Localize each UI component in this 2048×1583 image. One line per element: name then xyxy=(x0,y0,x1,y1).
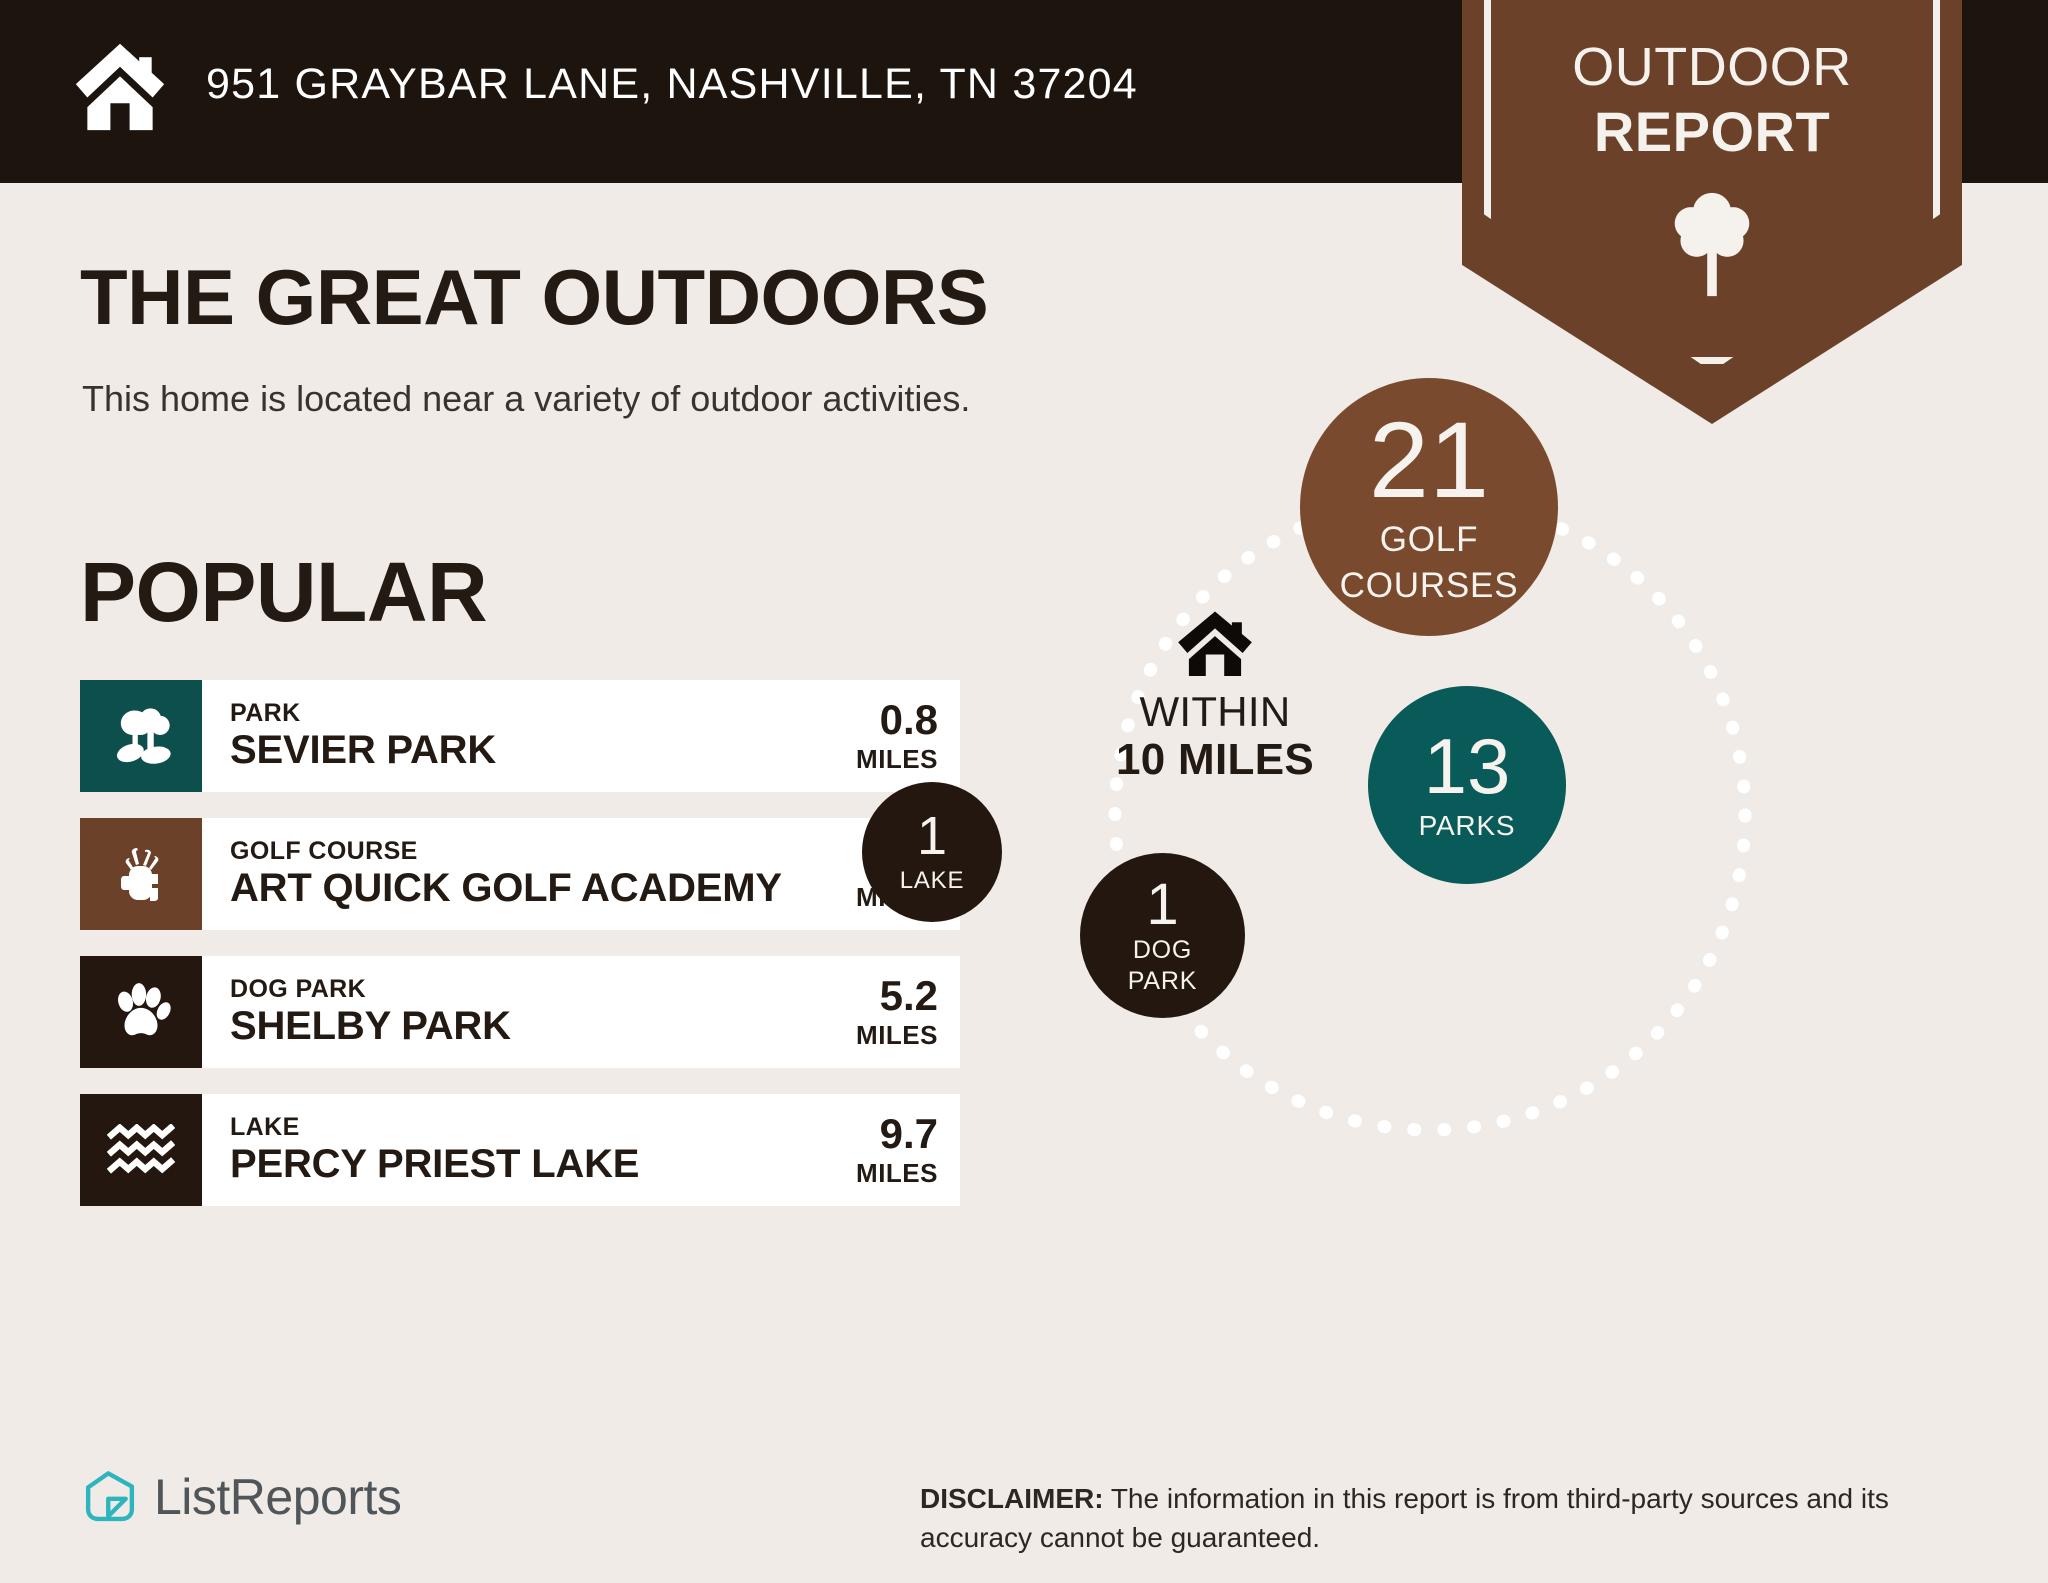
badge-title-line1: OUTDOOR xyxy=(1462,36,1962,98)
list-item[interactable]: GOLF COURSE ART QUICK GOLF ACADEMY 3.5 M… xyxy=(80,818,960,930)
bubble-dog-park[interactable]: 1 DOG PARK xyxy=(1080,853,1245,1018)
bubble-parks[interactable]: 13 PARKS xyxy=(1368,686,1566,884)
center-label-line2: 10 MILES xyxy=(1090,735,1340,784)
disclaimer-label: DISCLAIMER: xyxy=(920,1483,1104,1514)
section-heading-popular: POPULAR xyxy=(80,544,487,641)
list-item[interactable]: PARK SEVIER PARK 0.8 MILES xyxy=(80,680,960,792)
bubble-label-line2: COURSES xyxy=(1340,568,1519,605)
bubble-value: 13 xyxy=(1424,729,1511,803)
list-item-text: DOG PARK SHELBY PARK xyxy=(202,956,848,1068)
list-item-distance: 5.2 MILES xyxy=(848,956,960,1068)
distance-value: 0.8 xyxy=(880,697,938,743)
popular-list: PARK SEVIER PARK 0.8 MILES xyxy=(80,680,960,1232)
outdoor-report-page: 951 GRAYBAR LANE, NASHVILLE, TN 37204 OU… xyxy=(0,0,2048,1583)
golf-bag-icon xyxy=(80,818,202,930)
tree-icon xyxy=(1664,189,1760,299)
home-icon xyxy=(72,38,168,134)
list-item-category: GOLF COURSE xyxy=(230,837,848,866)
page-title: THE GREAT OUTDOORS xyxy=(80,252,988,343)
list-item-text: LAKE PERCY PRIEST LAKE xyxy=(202,1094,848,1206)
list-item[interactable]: LAKE PERCY PRIEST LAKE 9.7 MILES xyxy=(80,1094,960,1206)
page-subtitle: This home is located near a variety of o… xyxy=(82,378,970,420)
bubble-label-line1: PARKS xyxy=(1419,811,1516,840)
disclaimer: DISCLAIMER: The information in this repo… xyxy=(920,1480,1990,1557)
within-10-miles-diagram: WITHIN 10 MILES 21 GOLF COURSES 13 PARKS… xyxy=(1090,470,2030,1330)
center-label-line1: WITHIN xyxy=(1090,688,1340,735)
list-item-text: GOLF COURSE ART QUICK GOLF ACADEMY xyxy=(202,818,848,930)
distance-unit: MILES xyxy=(856,1158,938,1189)
listreports-house-icon xyxy=(82,1469,138,1525)
bubble-value: 21 xyxy=(1369,409,1489,512)
list-item-text: PARK SEVIER PARK xyxy=(202,680,848,792)
bubble-golf-courses[interactable]: 21 GOLF COURSES xyxy=(1300,378,1558,636)
distance-unit: MILES xyxy=(856,744,938,775)
list-item-name: PERCY PRIEST LAKE xyxy=(230,1141,848,1187)
bubble-label-line1: DOG xyxy=(1133,937,1192,963)
bubble-value: 1 xyxy=(1146,877,1178,932)
park-trees-icon xyxy=(80,680,202,792)
bubble-label-line1: LAKE xyxy=(900,868,965,893)
paw-print-icon xyxy=(80,956,202,1068)
distance-unit: MILES xyxy=(856,1020,938,1051)
list-item-distance: 9.7 MILES xyxy=(848,1094,960,1206)
distance-value: 9.7 xyxy=(880,1111,938,1157)
list-item-category: LAKE xyxy=(230,1113,848,1142)
listreports-logo[interactable]: ListReports xyxy=(82,1468,401,1526)
list-item-name: ART QUICK GOLF ACADEMY xyxy=(230,865,848,911)
bubble-lake[interactable]: 1 LAKE xyxy=(862,782,1002,922)
outdoor-report-badge: OUTDOOR REPORT xyxy=(1462,0,1962,424)
listreports-logo-text: ListReports xyxy=(154,1468,401,1526)
bubble-label-line2: PARK xyxy=(1128,968,1197,994)
water-waves-icon xyxy=(80,1094,202,1206)
list-item-name: SEVIER PARK xyxy=(230,727,848,773)
badge-title-line2: REPORT xyxy=(1462,99,1962,164)
list-item-distance: 0.8 MILES xyxy=(848,680,960,792)
property-address: 951 GRAYBAR LANE, NASHVILLE, TN 37204 xyxy=(206,60,1138,109)
list-item-category: PARK xyxy=(230,699,848,728)
bubble-label-line1: GOLF xyxy=(1380,522,1479,559)
list-item-name: SHELBY PARK xyxy=(230,1003,848,1049)
diagram-center-label: WITHIN 10 MILES xyxy=(1090,610,1340,784)
list-item[interactable]: DOG PARK SHELBY PARK 5.2 MILES xyxy=(80,956,960,1068)
distance-value: 5.2 xyxy=(880,973,938,1019)
home-icon xyxy=(1176,610,1254,676)
bubble-value: 1 xyxy=(917,811,947,862)
list-item-category: DOG PARK xyxy=(230,975,848,1004)
